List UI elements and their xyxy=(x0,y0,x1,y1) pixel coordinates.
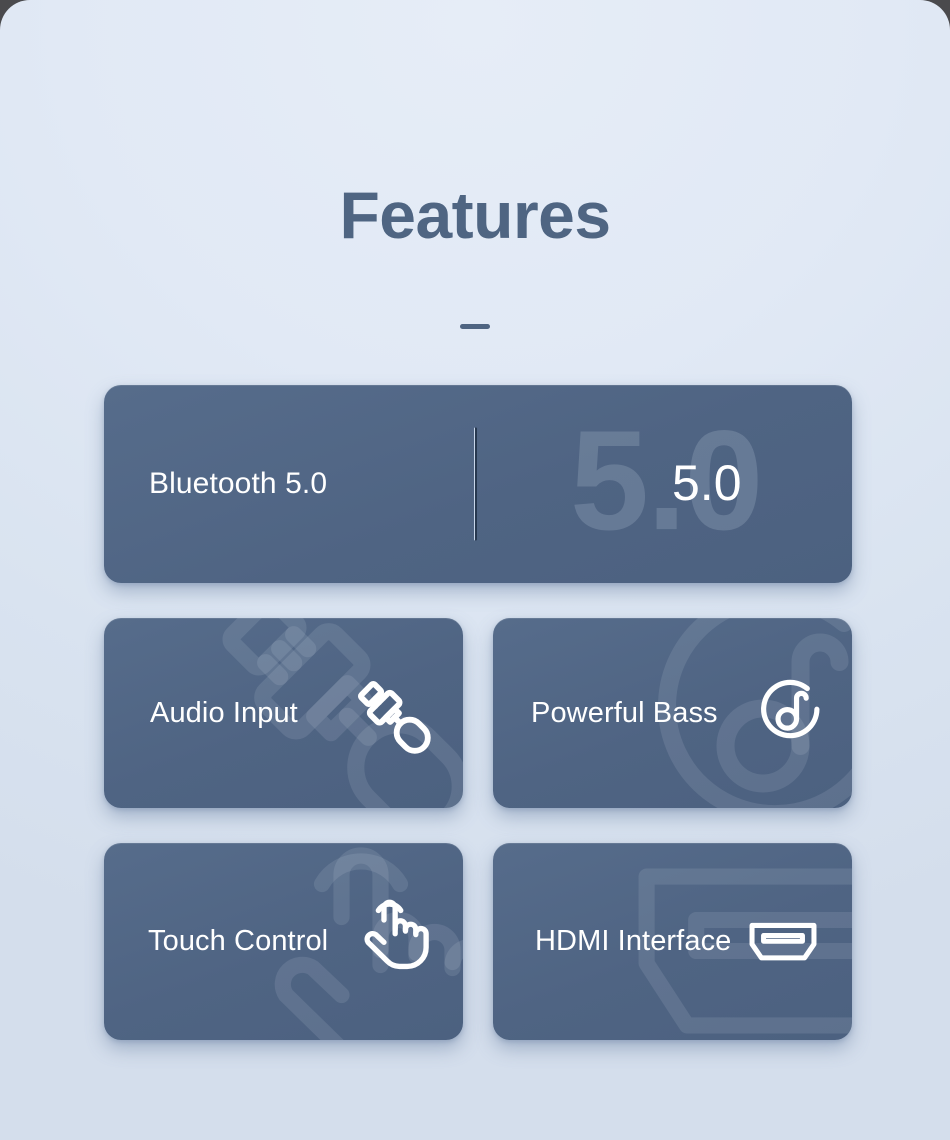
audio-jack-icon xyxy=(347,670,451,779)
feature-card-powerful-bass[interactable]: Powerful Bass xyxy=(493,618,852,808)
page-header: Features xyxy=(0,0,950,329)
page-title: Features xyxy=(0,182,950,248)
music-note-circle-icon xyxy=(754,673,828,752)
feature-card-audio-input[interactable]: Audio Input xyxy=(104,618,463,808)
feature-page: Features Bluetooth 5.0 5.0 5.0 Audio Inp… xyxy=(0,0,950,1140)
title-divider xyxy=(460,324,490,329)
feature-label-powerful-bass: Powerful Bass xyxy=(531,697,718,730)
touch-hand-icon xyxy=(350,889,436,980)
bluetooth-version-value: 5.0 xyxy=(672,458,742,508)
feature-row-1: Audio Input xyxy=(104,618,852,808)
feature-label-hdmi-interface: HDMI Interface xyxy=(535,925,731,958)
feature-row-2: Touch Control xyxy=(104,843,852,1040)
card-vertical-divider xyxy=(474,428,477,541)
feature-card-bluetooth[interactable]: Bluetooth 5.0 5.0 5.0 xyxy=(104,385,852,583)
feature-card-grid: Bluetooth 5.0 5.0 5.0 Audio Input xyxy=(104,385,852,1040)
feature-label-bluetooth: Bluetooth 5.0 xyxy=(149,467,327,501)
hdmi-port-icon xyxy=(747,917,819,972)
feature-card-hdmi-interface[interactable]: HDMI Interface xyxy=(493,843,852,1040)
feature-label-audio-input: Audio Input xyxy=(150,697,298,730)
feature-label-touch-control: Touch Control xyxy=(148,925,328,958)
feature-card-touch-control[interactable]: Touch Control xyxy=(104,843,463,1040)
